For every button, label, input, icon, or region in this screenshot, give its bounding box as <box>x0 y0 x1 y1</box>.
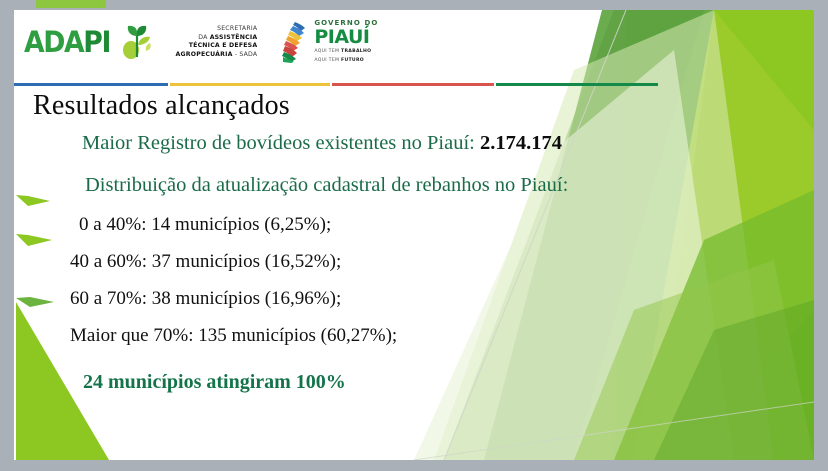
slide-canvas: ADAPI SECRETARIA DA ASSISTÊNCIA TÉCNICA … <box>0 0 828 471</box>
distribution-list: 0 a 40%: 14 municípios (6,25%); 40 a 60%… <box>70 215 630 363</box>
governo-line-2: PIAUÍ <box>314 28 378 47</box>
slide-page-surface: ADAPI SECRETARIA DA ASSISTÊNCIA TÉCNICA … <box>14 10 814 460</box>
sada-line-4-light: - SADA <box>233 51 258 58</box>
rule-segment-green <box>496 83 658 86</box>
sada-secretaria-text: SECRETARIA DA ASSISTÊNCIA TÉCNICA E DEFE… <box>176 25 258 60</box>
sada-line-3-bold: TÉCNICA E DEFESA <box>189 42 258 49</box>
top-left-green-tab <box>36 0 106 8</box>
adapi-logo: ADAPI <box>24 23 154 61</box>
piaui-map-icon <box>279 21 309 63</box>
distribution-subtitle: Distribuição da atualização cadastral de… <box>85 174 568 197</box>
sada-line-4: AGROPECUÁRIA - SADA <box>176 51 258 60</box>
plant-leaf-icon <box>120 23 154 61</box>
stat-line: Maior Registro de bovídeos existentes no… <box>82 132 562 155</box>
adapi-wordmark: ADAPI <box>24 28 110 57</box>
governo-subline-2-light: AQUI TEM <box>314 58 341 63</box>
rule-segment-blue <box>14 83 168 86</box>
rule-segment-red <box>332 83 494 86</box>
list-item: 0 a 40%: 14 municípios (6,25%); <box>70 215 630 234</box>
governo-subline-2-bold: FUTURO <box>341 58 364 63</box>
sada-line-2-light: DA <box>198 34 209 41</box>
rule-segment-yellow <box>170 83 330 86</box>
governo-piaui-logo: GOVERNO DO PIAUÍ AQUI TEM TRABALHO AQUI … <box>279 20 378 65</box>
governo-subline-1: AQUI TEM TRABALHO <box>314 49 378 56</box>
governo-subline-2: AQUI TEM FUTURO <box>314 58 378 65</box>
stat-line-prefix: Maior Registro de bovídeos existentes no… <box>82 132 480 154</box>
sada-line-4-bold: AGROPECUÁRIA <box>176 51 233 58</box>
governo-subline-1-light: AQUI TEM <box>314 49 341 54</box>
list-item: Maior que 70%: 135 municípios (60,27%); <box>70 326 630 345</box>
sada-line-3: TÉCNICA E DEFESA <box>176 42 258 51</box>
stat-line-value: 2.174.174 <box>480 132 562 154</box>
governo-subline-1-bold: TRABALHO <box>341 49 371 54</box>
sada-line-2-bold: ASSISTÊNCIA <box>210 34 258 41</box>
page-title: Resultados alcançados <box>33 90 290 122</box>
adapi-wordmark-ada: ADA <box>24 25 83 59</box>
governo-text-block: GOVERNO DO PIAUÍ AQUI TEM TRABALHO AQUI … <box>314 20 378 65</box>
list-item: 60 a 70%: 38 municípios (16,96%); <box>70 289 630 308</box>
logo-row: ADAPI SECRETARIA DA ASSISTÊNCIA TÉCNICA … <box>24 20 378 65</box>
highlight-statement: 24 municípios atingiram 100% <box>83 371 346 394</box>
adapi-wordmark-pi: PI <box>83 25 110 59</box>
slide-header: ADAPI SECRETARIA DA ASSISTÊNCIA TÉCNICA … <box>14 10 814 72</box>
list-item: 40 a 60%: 37 municípios (16,52%); <box>70 252 630 271</box>
sada-line-1: SECRETARIA <box>176 25 258 34</box>
